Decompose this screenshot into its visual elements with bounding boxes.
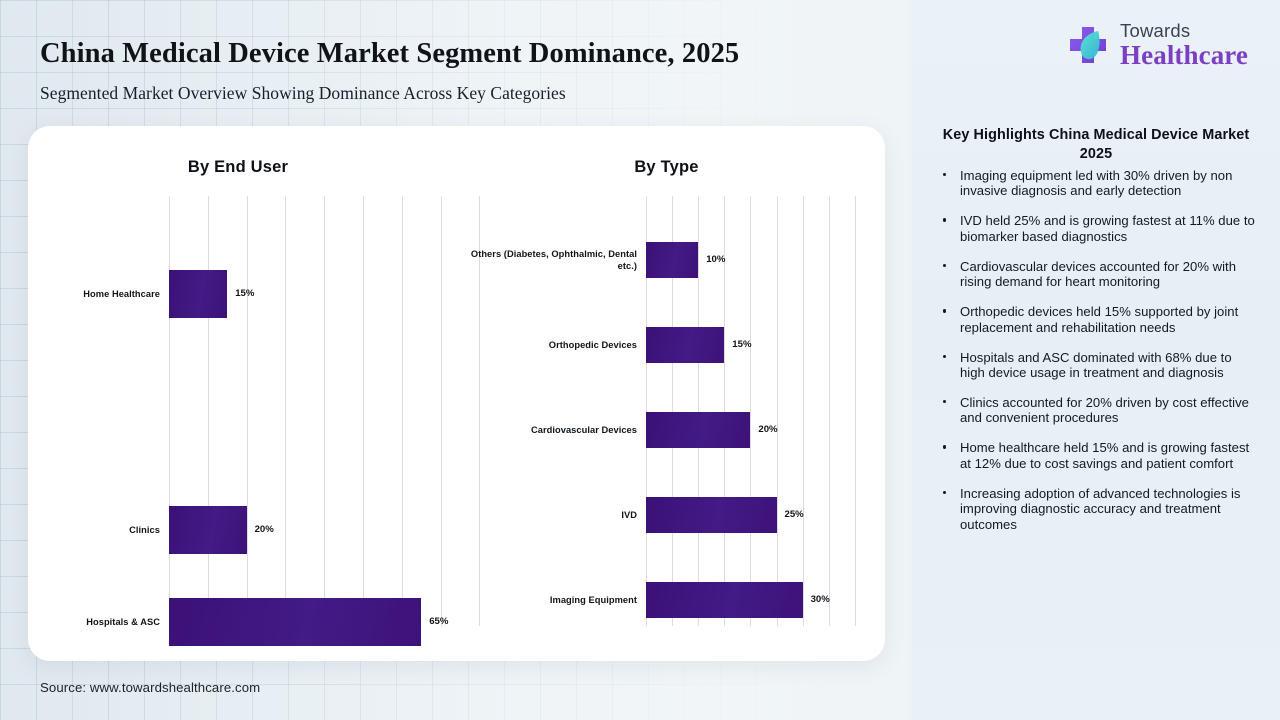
bar-category-label: Others (Diabetes, Ophthalmic, Dental etc… — [455, 246, 637, 274]
bar-value-label: 15% — [732, 339, 751, 350]
bullet-dot-icon — [943, 355, 946, 358]
highlight-bullet: Increasing adoption of advanced technolo… — [938, 486, 1258, 532]
bullet-dot-icon — [943, 218, 946, 221]
charts-row: By End User Home Healthcare15%Clinics20%… — [28, 126, 885, 661]
highlight-bullet-text: Orthopedic devices held 15% supported by… — [960, 304, 1238, 334]
bar — [646, 412, 750, 448]
highlight-bullet-text: Increasing adoption of advanced technolo… — [960, 486, 1240, 532]
charts-card: By End User Home Healthcare15%Clinics20%… — [28, 126, 885, 661]
highlight-bullet: Orthopedic devices held 15% supported by… — [938, 304, 1258, 335]
bar-value-label: 10% — [706, 254, 725, 265]
page-title: China Medical Device Market Segment Domi… — [40, 38, 880, 71]
chart-panel-by-type: By Type Others (Diabetes, Ophthalmic, De… — [448, 126, 885, 661]
bar — [169, 506, 247, 554]
bullet-dot-icon — [943, 491, 946, 494]
bar-value-label: 20% — [758, 424, 777, 435]
highlights-sidebar: Towards Healthcare Key Highlights China … — [912, 0, 1280, 720]
page-subtitle: Segmented Market Overview Showing Domina… — [40, 83, 880, 104]
highlight-bullet-text: Cardiovascular devices accounted for 20%… — [960, 259, 1236, 289]
highlight-bullet: Hospitals and ASC dominated with 68% due… — [938, 350, 1258, 381]
brand-wordmark: Towards Healthcare — [1120, 22, 1248, 69]
chart-panel-by-end-user: By End User Home Healthcare15%Clinics20%… — [28, 126, 448, 661]
bar-value-label: 15% — [235, 288, 254, 299]
highlights-title: Key Highlights China Medical Device Mark… — [936, 126, 1256, 163]
highlight-bullet: Home healthcare held 15% and is growing … — [938, 440, 1258, 471]
brand-name-bottom: Healthcare — [1120, 42, 1248, 69]
medical-cross-leaf-icon — [1065, 22, 1111, 68]
bars-by-end-user: Home Healthcare15%Clinics20%Hospitals & … — [28, 196, 448, 626]
highlight-bullet-text: Hospitals and ASC dominated with 68% due… — [960, 350, 1232, 380]
highlight-bullet-text: Home healthcare held 15% and is growing … — [960, 440, 1249, 470]
bar — [646, 497, 777, 533]
bar-category-label: Hospitals & ASC — [52, 608, 160, 636]
bar — [646, 582, 803, 618]
bar-value-label: 65% — [429, 616, 448, 627]
bullet-dot-icon — [943, 400, 946, 403]
bullet-dot-icon — [943, 264, 946, 267]
highlight-bullet: Clinics accounted for 20% driven by cost… — [938, 395, 1258, 426]
bullet-dot-icon — [943, 445, 946, 448]
highlight-bullet-text: Imaging equipment led with 30% driven by… — [960, 168, 1232, 198]
bar-category-label: IVD — [455, 501, 637, 529]
title-block: China Medical Device Market Segment Domi… — [40, 38, 880, 104]
bar-category-label: Imaging Equipment — [455, 586, 637, 614]
highlights-bullet-list: Imaging equipment led with 30% driven by… — [938, 168, 1258, 546]
source-text: Source: www.towardshealthcare.com — [40, 680, 260, 695]
highlight-bullet-text: Clinics accounted for 20% driven by cost… — [960, 395, 1249, 425]
bar-category-label: Home Healthcare — [52, 280, 160, 308]
plot-area-by-end-user: Home Healthcare15%Clinics20%Hospitals & … — [28, 196, 448, 626]
main-content-area: China Medical Device Market Segment Domi… — [0, 0, 912, 720]
bullet-dot-icon — [943, 309, 946, 312]
bar — [646, 327, 724, 363]
plot-area-by-type: Others (Diabetes, Ophthalmic, Dental etc… — [448, 196, 885, 626]
bullet-dot-icon — [943, 173, 946, 176]
infographic-root: China Medical Device Market Segment Domi… — [0, 0, 1280, 720]
highlight-bullet: Cardiovascular devices accounted for 20%… — [938, 259, 1258, 290]
bar-value-label: 30% — [811, 594, 830, 605]
bar-value-label: 25% — [785, 509, 804, 520]
highlight-bullet-text: IVD held 25% and is growing fastest at 1… — [960, 213, 1255, 243]
highlight-bullet: IVD held 25% and is growing fastest at 1… — [938, 213, 1258, 244]
bars-by-type: Others (Diabetes, Ophthalmic, Dental etc… — [448, 196, 885, 626]
brand-logo: Towards Healthcare — [912, 22, 1280, 69]
bar-category-label: Orthopedic Devices — [455, 331, 637, 359]
bar-category-label: Cardiovascular Devices — [455, 416, 637, 444]
bar — [169, 270, 227, 318]
brand-name-top: Towards — [1120, 22, 1248, 41]
chart-title-by-type: By Type — [448, 158, 885, 177]
bar — [169, 598, 421, 646]
highlight-bullet: Imaging equipment led with 30% driven by… — [938, 168, 1258, 199]
bar-category-label: Clinics — [52, 516, 160, 544]
bar-value-label: 20% — [255, 524, 274, 535]
chart-title-by-end-user: By End User — [28, 158, 448, 177]
bar — [646, 242, 698, 278]
